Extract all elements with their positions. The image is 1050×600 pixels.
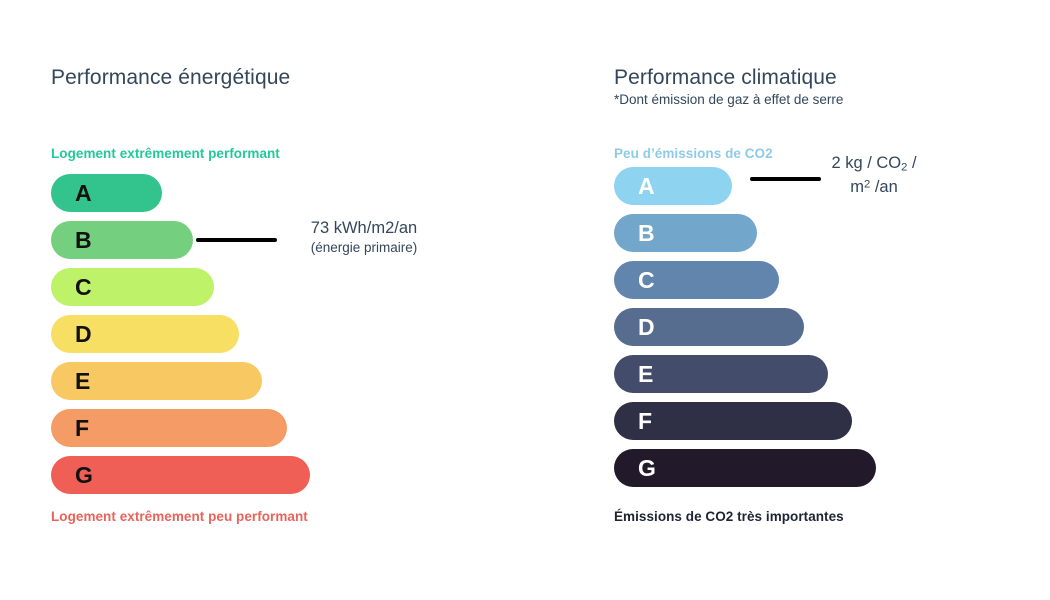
climate-panel-subtitle: *Dont émission de gaz à effet de serre [614, 92, 843, 107]
energy-grade-row-d: D [51, 315, 310, 353]
energy-bar-g: G [51, 456, 310, 494]
energy-grade-row-a: A [51, 174, 310, 212]
energy-bar-letter-e: E [75, 370, 91, 393]
energy-bar-b: B [51, 221, 193, 259]
energy-bar-letter-c: C [75, 276, 92, 299]
energy-bar-f: F [51, 409, 287, 447]
climate-bar-letter-b: B [638, 222, 655, 245]
climate-bar-letter-d: D [638, 316, 655, 339]
climate-grade-scale: A B C D E [614, 167, 876, 496]
climate-value-m-prefix: m [850, 178, 864, 196]
energy-value-main: 73 kWh/m2/an [244, 217, 484, 239]
dpe-diagram: Performance énergétique Logement extrême… [0, 0, 1050, 600]
energy-grade-row-c: C [51, 268, 310, 306]
climate-grade-row-d: D [614, 308, 876, 346]
climate-bar-letter-a: A [638, 175, 655, 198]
climate-bar-a: A [614, 167, 732, 205]
climate-bar-c: C [614, 261, 779, 299]
climate-bar-b: B [614, 214, 757, 252]
climate-grade-row-f: F [614, 402, 876, 440]
climate-grade-row-e: E [614, 355, 876, 393]
climate-bar-letter-f: F [638, 410, 652, 433]
energy-bar-letter-b: B [75, 229, 92, 252]
energy-value-block: 73 kWh/m2/an (énergie primaire) [244, 217, 484, 257]
climate-value-slash: / [907, 154, 916, 172]
climate-bar-letter-c: C [638, 269, 655, 292]
energy-bar-letter-f: F [75, 417, 89, 440]
energy-bottom-caption: Logement extrêmement peu performant [51, 509, 308, 524]
energy-bar-letter-g: G [75, 464, 93, 487]
climate-bar-letter-e: E [638, 363, 654, 386]
energy-bar-a: A [51, 174, 162, 212]
climate-value-block: 2 kg / CO2 / m2 /an [774, 152, 974, 200]
energy-grade-row-f: F [51, 409, 310, 447]
energy-grade-row-g: G [51, 456, 310, 494]
energy-bar-c: C [51, 268, 214, 306]
climate-grade-row-g: G [614, 449, 876, 487]
energy-grade-row-e: E [51, 362, 310, 400]
energy-bar-letter-d: D [75, 323, 92, 346]
climate-top-caption: Peu d’émissions de CO2 [614, 146, 773, 161]
energy-performance-panel: Performance énergétique Logement extrême… [0, 0, 562, 600]
climate-bar-f: F [614, 402, 852, 440]
energy-panel-title: Performance énergétique [51, 66, 290, 90]
energy-bar-d: D [51, 315, 239, 353]
climate-performance-panel: Performance climatique *Dont émission de… [562, 0, 1050, 600]
energy-value-note: (énergie primaire) [244, 239, 484, 257]
climate-value-line-1: 2 kg / CO2 / [774, 152, 974, 176]
climate-value-prefix: 2 kg / CO [831, 154, 901, 172]
climate-value-line-2: m2 /an [774, 176, 974, 200]
climate-bar-e: E [614, 355, 828, 393]
climate-bar-g: G [614, 449, 876, 487]
climate-panel-title: Performance climatique [614, 66, 837, 90]
energy-bar-letter-a: A [75, 182, 92, 205]
climate-bar-letter-g: G [638, 457, 656, 480]
climate-grade-row-b: B [614, 214, 876, 252]
climate-bottom-caption: Émissions de CO2 très importantes [614, 509, 844, 524]
energy-top-caption: Logement extrêmement performant [51, 146, 280, 161]
energy-bar-e: E [51, 362, 262, 400]
climate-value-per-year: /an [870, 178, 898, 196]
climate-grade-row-c: C [614, 261, 876, 299]
climate-bar-d: D [614, 308, 804, 346]
